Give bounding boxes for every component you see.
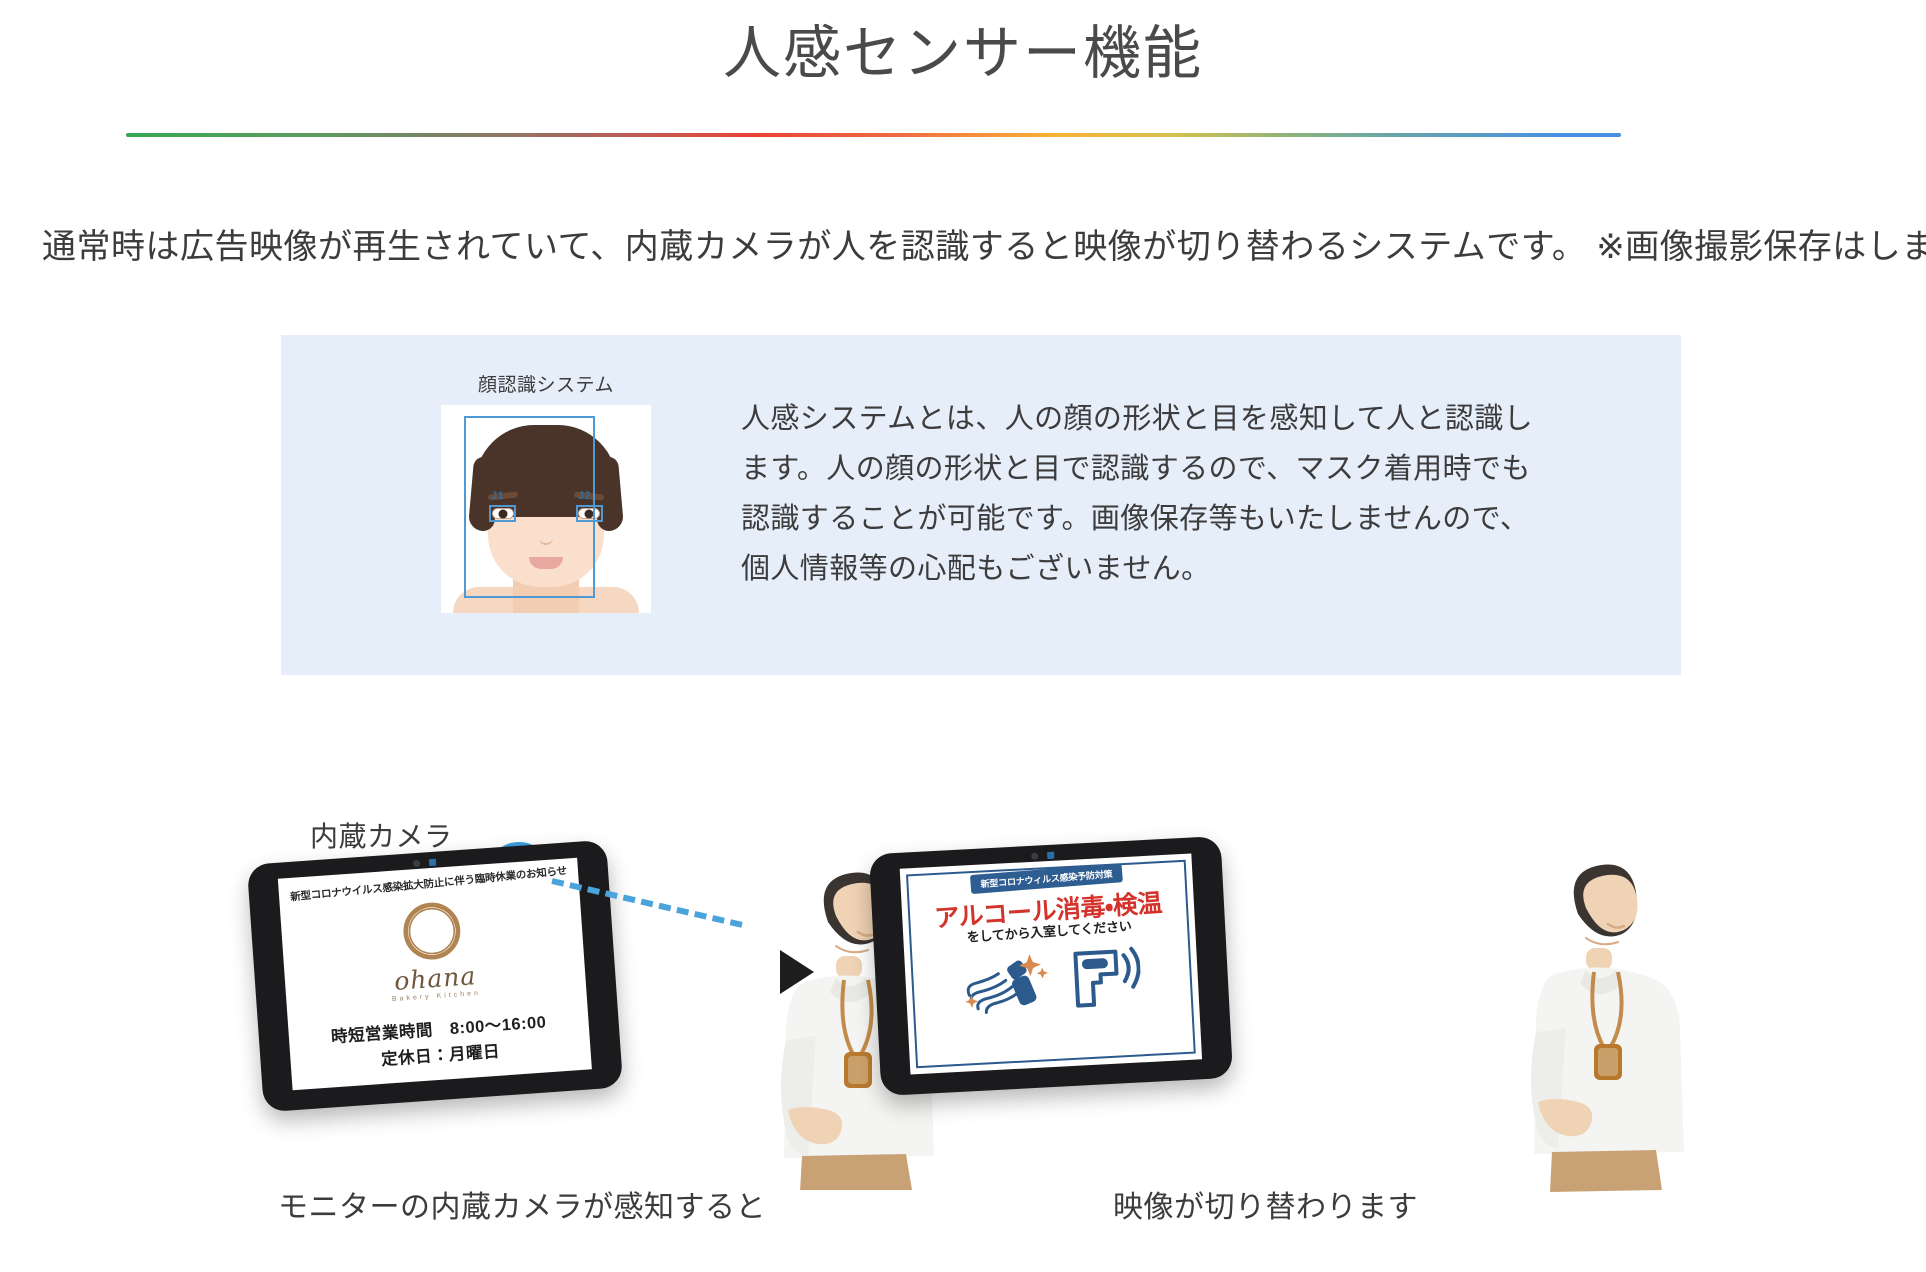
built-in-camera-callout: 内蔵カメラ [310, 815, 453, 855]
face-photo: J1 J2 [441, 405, 651, 613]
flow-caption-right: 映像が切り替わります [1113, 1182, 1418, 1226]
transition-arrow-icon [780, 950, 814, 994]
ad-notice-text: 新型コロナウイルス感染拡大防止に伴う臨時休業のお知らせ [279, 862, 579, 906]
built-in-camera-lens-icon [412, 860, 419, 867]
detection-eye-box-left: J1 [489, 505, 516, 522]
detection-eye-label-right: J2 [578, 490, 591, 502]
face-figure-label: 顔認識システム [441, 370, 651, 397]
camera-indicator-icon-right [1047, 852, 1054, 859]
monitor-left-screen: 新型コロナウイルス感染拡大防止に伴う臨時休業のお知らせ ohana Bakery… [278, 858, 592, 1090]
detection-eye-label-left: J1 [491, 490, 504, 502]
sensor-flow-section: 内蔵カメラ 新型コロナウイルス感染拡大防止に伴う臨時休業のお知らせ ohana … [0, 800, 1926, 1270]
detection-eye-box-right: J2 [576, 505, 603, 522]
title-divider [126, 133, 1621, 137]
monitor-right: 新型コロナウィルス感染予防対策 アルコール消毒・検温 をしてから入室してください [869, 836, 1233, 1096]
slide-root: 人感センサー機能 通常時は広告映像が再生されていて、内蔵カメラが人を認識すると映… [0, 0, 1926, 1272]
face-recognition-info-panel: 顔認識システム J1 J2 [281, 335, 1681, 675]
thermometer-gun-icon [1069, 944, 1142, 1010]
monitor-right-screen: 新型コロナウィルス感染予防対策 アルコール消毒・検温 をしてから入室してください [900, 854, 1202, 1075]
person-figure-right [1490, 852, 1700, 1192]
flow-caption-left: モニターの内蔵カメラが感知すると [278, 1182, 766, 1226]
face-recognition-figure: 顔認識システム J1 J2 [441, 370, 651, 613]
face-recognition-description: 人感システムとは、人の顔の形状と目を感知して人と認識します。人の顔の形状と目で認… [741, 395, 1541, 595]
camera-indicator-icon [429, 859, 436, 866]
hand-sanitizer-icon [961, 947, 1050, 1017]
page-title: 人感センサー機能 [0, 18, 1926, 91]
built-in-camera-lens-icon-right [1031, 853, 1038, 860]
ohana-logo-icon [401, 900, 463, 962]
lead-paragraph: 通常時は広告映像が再生されていて、内蔵カメラが人を認識すると映像が切り替わるシス… [42, 222, 1902, 273]
